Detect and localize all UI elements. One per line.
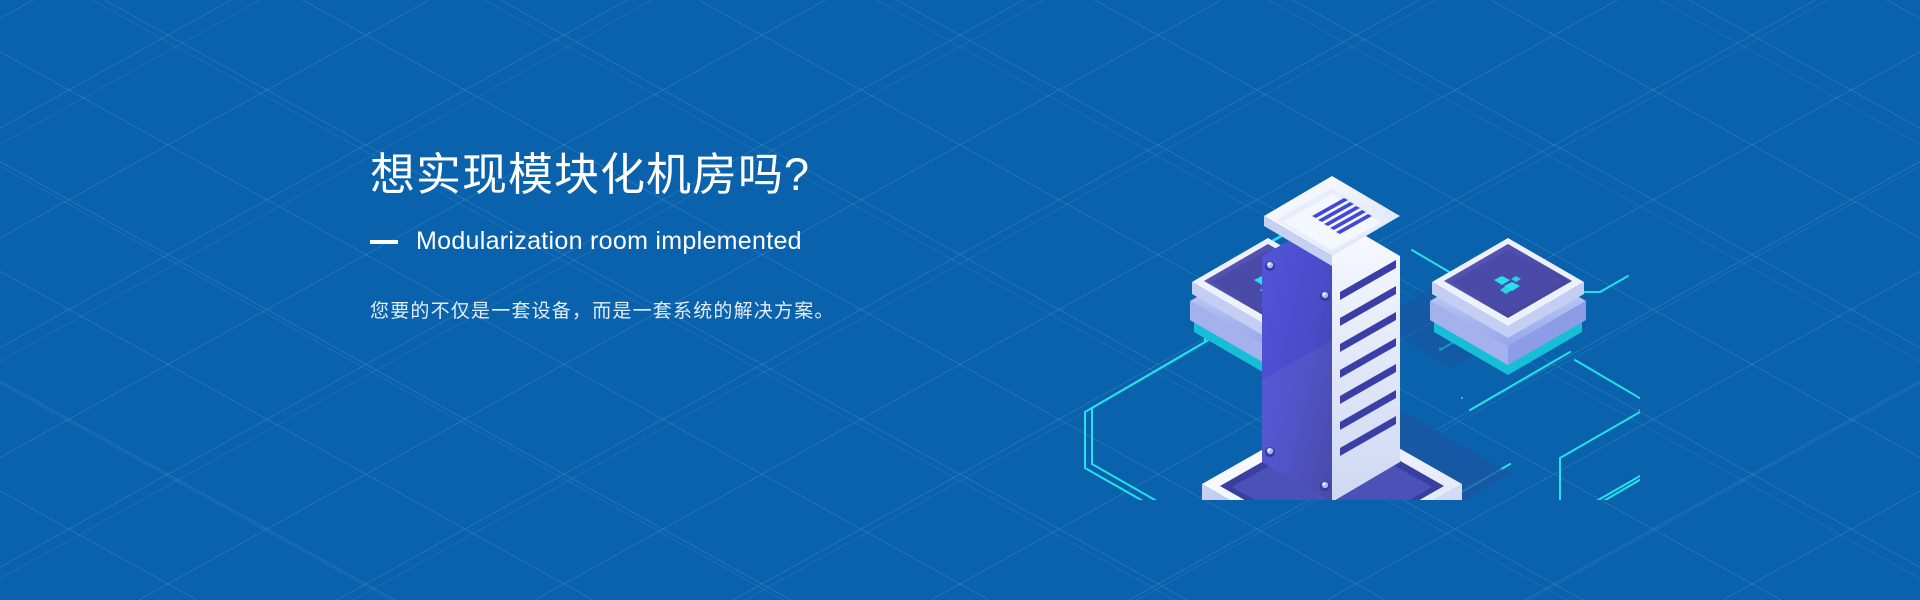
hero-subtitle: Modularization room implemented <box>416 227 802 256</box>
isometric-server-room-illustration <box>1000 80 1640 500</box>
screw-icon <box>1265 261 1275 271</box>
hero-banner: 想实现模块化机房吗? Modularization room implement… <box>0 0 1920 600</box>
screw-icon <box>1265 447 1275 457</box>
screw-icon <box>1320 481 1330 491</box>
screw-icon <box>1320 291 1330 301</box>
horizontal-dash-icon <box>370 240 398 244</box>
